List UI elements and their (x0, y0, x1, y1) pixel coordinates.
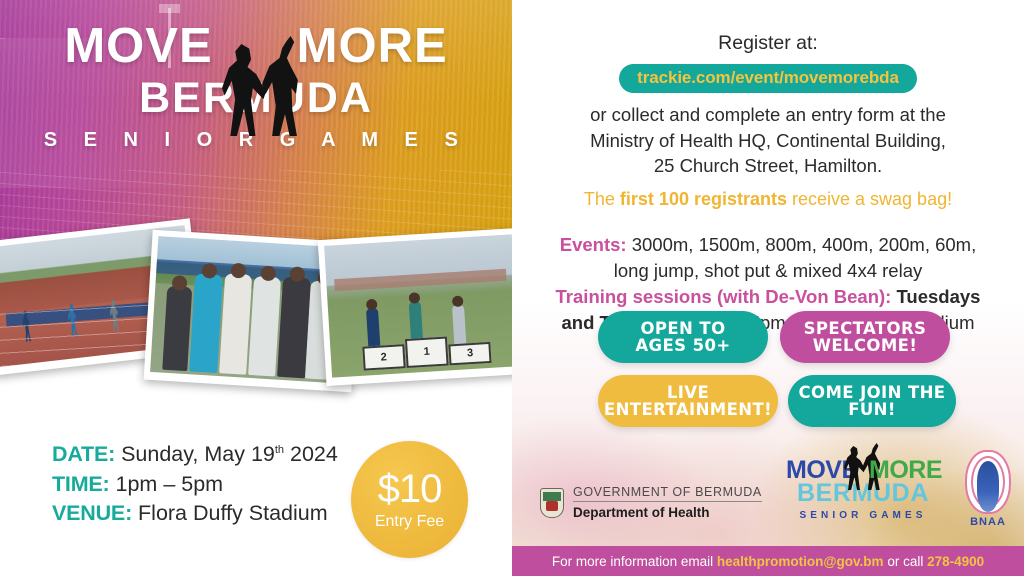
register-heading: Register at: (512, 32, 1024, 55)
events-label: Events: (560, 234, 627, 255)
registration-url-link[interactable]: trackie.com/event/movemorebda (619, 64, 917, 93)
runner-figure (67, 302, 81, 337)
detail-time-label: TIME: (52, 472, 110, 496)
highlight-pills: OPEN TOAGES 50+ SPECTATORSWELCOME! LIVEE… (512, 305, 1024, 425)
participant-figure (162, 286, 193, 372)
podium-block-third: 3 (449, 341, 492, 365)
runner-figure (108, 298, 122, 332)
government-of-bermuda-logo: GOVERNMENT OF BERMUDA Department of Heal… (540, 485, 762, 520)
detail-venue-label: VENUE: (52, 501, 132, 525)
photo-podium-image: 2 1 3 (324, 234, 512, 377)
register-line-3: 25 Church Street, Hamilton. (512, 153, 1024, 179)
entry-fee-amount: $10 (378, 469, 442, 509)
contact-footer-bar: For more information email healthpromoti… (512, 546, 1024, 576)
podium-block-second: 2 (362, 344, 405, 370)
events-list-1: 3000m, 1500m, 800m, 400m, 200m, 60m, (627, 234, 977, 255)
swag-post: receive a swag bag! (787, 189, 952, 209)
contact-footer-text: For more information email healthpromoti… (552, 554, 984, 569)
swag-highlight: first 100 registrants (620, 189, 787, 209)
detail-date-year: 2024 (284, 442, 338, 466)
pill-spectators-welcome-text: SPECTATORSWELCOME! (804, 320, 927, 354)
detail-venue-value: Flora Duffy Stadium (138, 501, 328, 525)
pill-open-to-ages-text: OPEN TOAGES 50+ (635, 320, 730, 354)
left-column: MOVEMORE BERMUDA S E N I O R G A M E S (0, 0, 512, 576)
footer-phone[interactable]: 278-4900 (927, 554, 984, 569)
pill-live-entertainment-text: LIVEENTERTAINMENT! (604, 384, 772, 418)
collage-photo-podium: 2 1 3 (318, 228, 512, 386)
events-line-2: long jump, shot put & mixed 4x4 relay (512, 258, 1024, 284)
participant-figure (219, 273, 253, 375)
runner-figure (21, 310, 34, 343)
hero-logo-lockup: MOVEMORE BERMUDA S E N I O R G A M E S (0, 22, 512, 152)
pill-come-join-the-fun: COME JOIN THEFUN! (788, 375, 956, 427)
footer-email[interactable]: healthpromotion@gov.bm (717, 554, 884, 569)
right-column: Register at: trackie.com/event/movemoreb… (512, 0, 1024, 576)
pill-spectators-welcome: SPECTATORSWELCOME! (780, 311, 950, 363)
footer-mid: or call (884, 554, 928, 569)
training-days-1: Tuesdays (891, 286, 980, 307)
hero-logo-move: MOVE (64, 19, 212, 73)
hero-banner: MOVEMORE BERMUDA S E N I O R G A M E S (0, 0, 512, 250)
department-name: Department of Health (573, 505, 762, 520)
events-line-1: Events: 3000m, 1500m, 800m, 400m, 200m, … (512, 232, 1024, 258)
register-line-2: Ministry of Health HQ, Continental Build… (512, 128, 1024, 154)
participant-figure (189, 274, 222, 373)
logo-more-text: MORE (869, 456, 942, 485)
register-address: or collect and complete an entry form at… (512, 102, 1024, 179)
entry-fee-badge: $10 Entry Fee (351, 441, 468, 558)
registration-block: Register at: trackie.com/event/movemoreb… (512, 0, 1024, 337)
detail-time-value: 1pm – 5pm (116, 472, 224, 496)
move-more-bermuda-logo: MOVE MORE BERMUDA SENIOR GAMES (784, 448, 942, 536)
government-logo-text: GOVERNMENT OF BERMUDA Department of Heal… (573, 485, 762, 520)
footer-pre: For more information email (552, 554, 717, 569)
detail-date-value: Sunday, May 19 (121, 442, 275, 466)
register-line-1: or collect and complete an entry form at… (512, 102, 1024, 128)
bermuda-coat-of-arms-icon (540, 488, 564, 518)
pill-live-entertainment: LIVEENTERTAINMENT! (598, 375, 778, 427)
detail-date-label: DATE: (52, 442, 115, 466)
hero-logo-moveMore: MOVEMORE (0, 22, 512, 71)
hero-logo-tagline: S E N I O R G A M E S (0, 129, 512, 152)
running-track-oval-icon (965, 450, 1011, 514)
move-more-wordmark: MOVE MORE (784, 448, 942, 482)
participant-figure (248, 276, 281, 377)
event-details: DATE: Sunday, May 19th 2024 TIME: 1pm – … (52, 440, 352, 529)
detail-date-ordinal: th (275, 444, 284, 456)
swag-bag-note: The first 100 registrants receive a swag… (512, 189, 1024, 210)
detail-venue: VENUE: Flora Duffy Stadium (52, 499, 352, 529)
bnaa-logo: BNAA (964, 450, 1012, 532)
athlete-figure-second (366, 308, 381, 351)
podium-block-first: 1 (405, 336, 448, 368)
bnaa-label: BNAA (964, 516, 1012, 528)
detail-date: DATE: Sunday, May 19th 2024 (52, 440, 352, 470)
poster: MOVEMORE BERMUDA S E N I O R G A M E S (0, 0, 1024, 576)
pill-come-join-the-fun-text: COME JOIN THEFUN! (799, 384, 946, 418)
logo-senior-games-text: SENIOR GAMES (784, 510, 942, 521)
government-name: GOVERNMENT OF BERMUDA (573, 485, 762, 502)
hero-logo-more: MORE (297, 19, 448, 73)
detail-time: TIME: 1pm – 5pm (52, 470, 352, 500)
entry-fee-label: Entry Fee (375, 513, 444, 531)
photo-collage: 2 1 3 (0, 222, 512, 422)
training-label: Training sessions (with De-Von Bean): (556, 286, 892, 307)
sponsor-logos: GOVERNMENT OF BERMUDA Department of Heal… (512, 440, 1024, 540)
pill-open-to-ages: OPEN TOAGES 50+ (598, 311, 768, 363)
swag-pre: The (584, 189, 620, 209)
athlete-figure-third (452, 304, 466, 345)
